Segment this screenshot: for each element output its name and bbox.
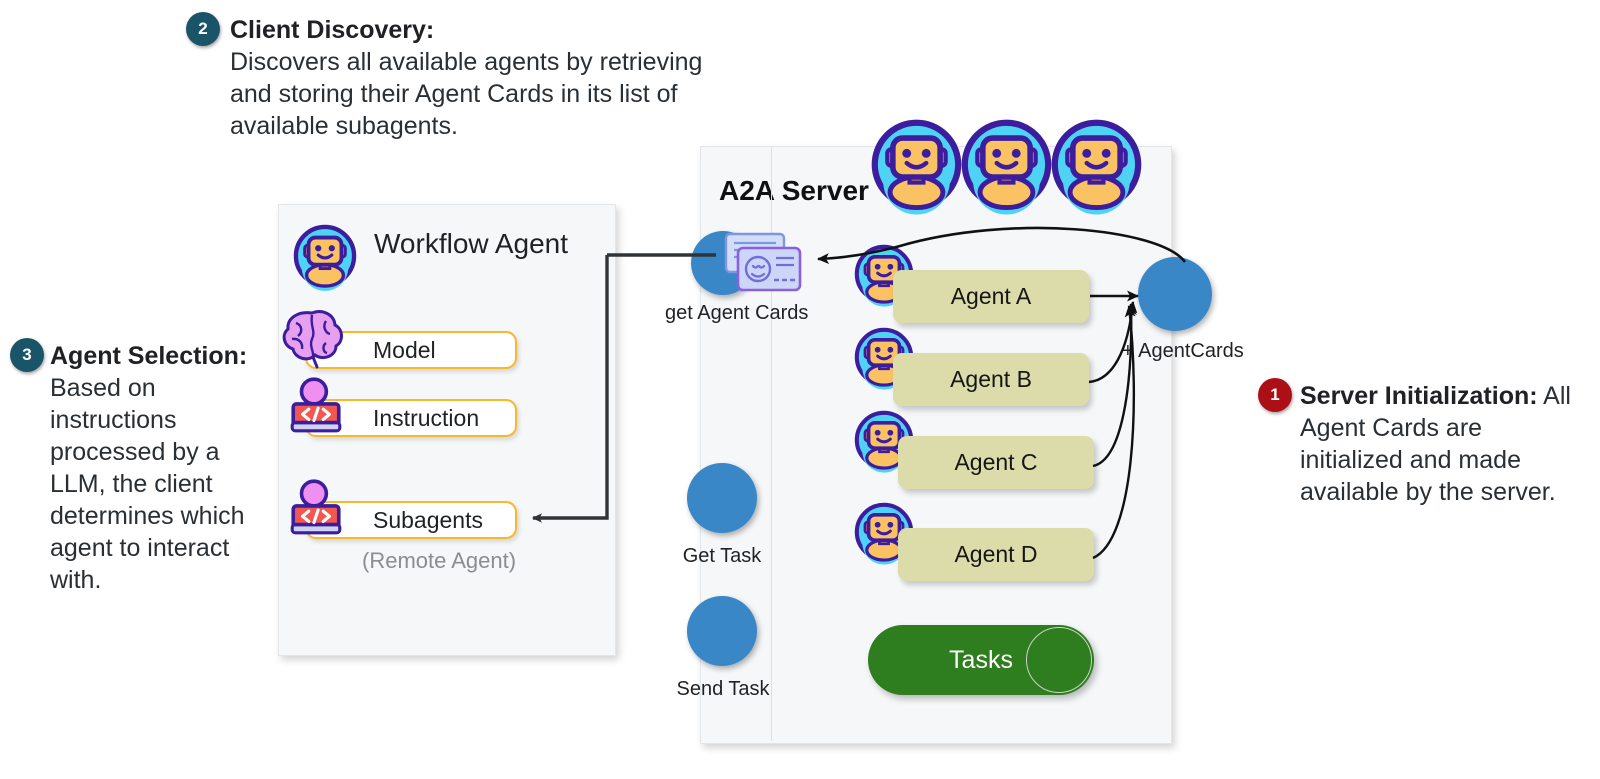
connector-arrows [0, 0, 1600, 779]
workflow-to-subagents-line [533, 255, 607, 518]
registry-to-get-agent-cards-curve [818, 228, 1185, 262]
agent-b-to-registry [1089, 302, 1133, 382]
brain-icon [282, 305, 346, 369]
subagents-code-person-icon [286, 477, 346, 537]
instruction-code-person-icon [286, 375, 346, 435]
agent-c-to-registry [1093, 304, 1131, 466]
agent-d-to-registry [1093, 306, 1134, 558]
